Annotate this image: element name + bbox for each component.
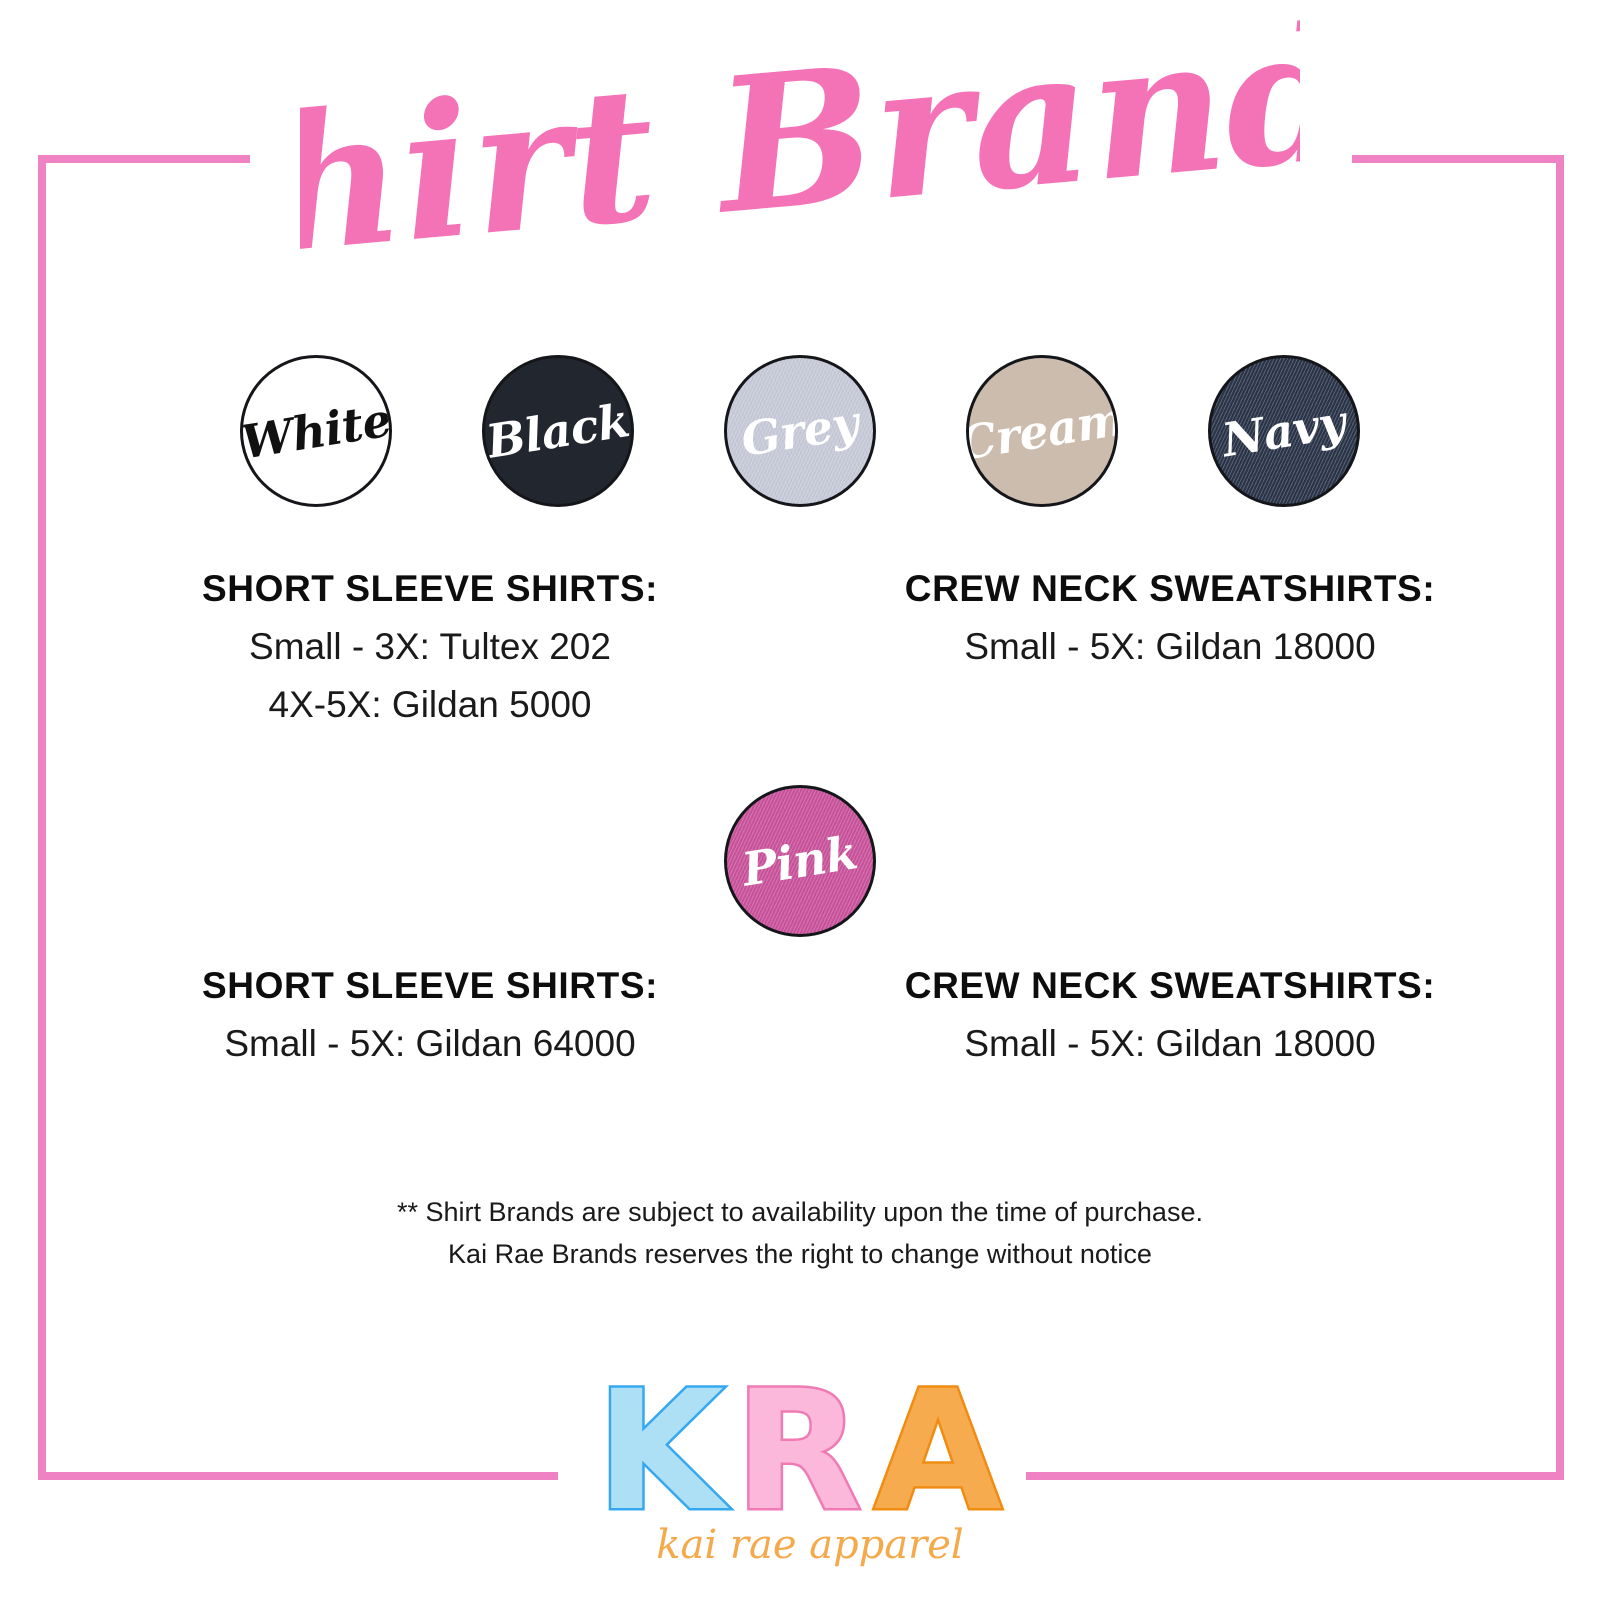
color-swatch-row-top: White Black Grey Cream Navy xyxy=(180,355,1420,507)
color-swatch-row-middle: Pink xyxy=(0,785,1600,937)
crew-neck-info-row-two: CREW NECK SWEATSHIRTS: Small - 5X: Gilda… xyxy=(860,965,1480,1065)
frame-top-left-border xyxy=(38,155,250,163)
swatch-cream[interactable]: Cream xyxy=(966,355,1118,507)
disclaimer-line-2: Kai Rae Brands reserves the right to cha… xyxy=(200,1234,1400,1276)
crew-neck-line-1-row-two: Small - 5X: Gildan 18000 xyxy=(860,1023,1480,1065)
crew-neck-line-1-row-one: Small - 5X: Gildan 18000 xyxy=(860,626,1480,668)
swatch-white[interactable]: White xyxy=(240,355,392,507)
crew-neck-heading-row-two: CREW NECK SWEATSHIRTS: xyxy=(860,965,1480,1007)
disclaimer-line-1: ** Shirt Brands are subject to availabil… xyxy=(200,1192,1400,1234)
logo-letter-k: K xyxy=(596,1368,729,1547)
logo-letter-r: R xyxy=(734,1368,861,1547)
swatch-black[interactable]: Black xyxy=(482,355,634,507)
short-sleeve-info-row-two: SHORT SLEEVE SHIRTS: Small - 5X: Gildan … xyxy=(120,965,740,1065)
logo-letter-a: A xyxy=(874,1368,1002,1547)
brand-logo: K R A kai rae apparel xyxy=(0,1368,1600,1568)
disclaimer: ** Shirt Brands are subject to availabil… xyxy=(200,1192,1400,1276)
frame-top-right-border xyxy=(1352,155,1564,163)
kra-logo-art: K R A kai rae apparel xyxy=(560,1368,1040,1568)
title-script-art: Shirt Brands xyxy=(300,15,1300,275)
swatch-label-cream: Cream xyxy=(966,395,1118,466)
swatch-grey[interactable]: Grey xyxy=(724,355,876,507)
swatch-pink[interactable]: Pink xyxy=(724,785,876,937)
short-sleeve-line-1-row-two: Small - 5X: Gildan 64000 xyxy=(120,1023,740,1065)
swatch-navy[interactable]: Navy xyxy=(1208,355,1360,507)
logo-tagline: kai rae apparel xyxy=(656,1522,963,1568)
short-sleeve-info-row-one: SHORT SLEEVE SHIRTS: Small - 3X: Tultex … xyxy=(120,568,740,726)
page-title: Shirt Brands xyxy=(0,10,1600,280)
page-title-text: Shirt Brands xyxy=(300,15,1300,275)
swatch-label-white: White xyxy=(240,397,392,466)
short-sleeve-line-1-row-one: Small - 3X: Tultex 202 xyxy=(120,626,740,668)
poster-canvas: Shirt Brands White Black Grey Cream Navy… xyxy=(0,0,1600,1600)
swatch-label-black: Black xyxy=(484,397,633,465)
crew-neck-info-row-one: CREW NECK SWEATSHIRTS: Small - 5X: Gilda… xyxy=(860,568,1480,668)
short-sleeve-line-2-row-one: 4X-5X: Gildan 5000 xyxy=(120,684,740,726)
crew-neck-heading-row-one: CREW NECK SWEATSHIRTS: xyxy=(860,568,1480,610)
short-sleeve-heading-row-two: SHORT SLEEVE SHIRTS: xyxy=(120,965,740,1007)
short-sleeve-heading-row-one: SHORT SLEEVE SHIRTS: xyxy=(120,568,740,610)
